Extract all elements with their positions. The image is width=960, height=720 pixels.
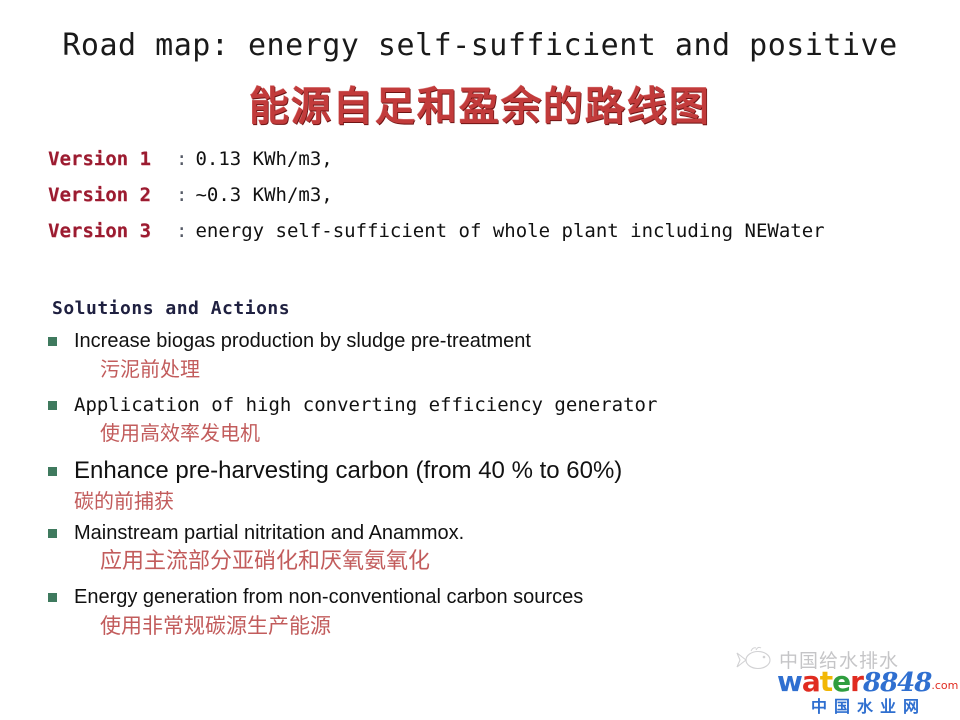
- square-bullet-icon: [48, 401, 57, 410]
- square-bullet-icon: [48, 593, 57, 602]
- bullet-text-english: Mainstream partial nitritation and Anamm…: [74, 520, 464, 546]
- version-colon: :: [176, 184, 187, 206]
- version-value: 0.13 KWh/m3,: [195, 148, 332, 170]
- version-value: ~0.3 KWh/m3,: [195, 184, 332, 206]
- square-bullet-icon: [48, 337, 57, 346]
- logo-letter-w: w: [777, 665, 802, 698]
- version-row: Version 2 : ~0.3 KWh/m3,: [48, 184, 948, 220]
- watermark-logo-tld: .com: [931, 679, 958, 692]
- bullet-text-english: Application of high converting efficienc…: [74, 392, 657, 418]
- slide-title-english: Road map: energy self-sufficient and pos…: [0, 28, 960, 63]
- version-value: energy self-sufficient of whole plant in…: [195, 220, 824, 242]
- square-bullet-icon: [48, 529, 57, 538]
- bullet-item: Energy generation from non-conventional …: [48, 584, 948, 642]
- bullet-item: Enhance pre-harvesting carbon (from 40 %…: [48, 456, 948, 516]
- bullet-text-chinese: 使用非常规碳源生产能源: [48, 610, 948, 642]
- version-colon: :: [176, 220, 187, 242]
- version-row: Version 1 : 0.13 KWh/m3,: [48, 148, 948, 184]
- bullet-line: Application of high converting efficienc…: [48, 392, 948, 418]
- version-label: Version 2: [48, 184, 176, 206]
- slide-canvas: Road map: energy self-sufficient and pos…: [0, 0, 960, 720]
- bullet-line: Enhance pre-harvesting carbon (from 40 %…: [48, 456, 948, 486]
- version-colon: :: [176, 148, 187, 170]
- bullet-text-chinese: 使用高效率发电机: [48, 418, 948, 448]
- bullet-line: Increase biogas production by sludge pre…: [48, 328, 948, 354]
- solutions-heading: Solutions and Actions: [52, 298, 290, 319]
- bullet-text-english: Enhance pre-harvesting carbon (from 40 %…: [74, 456, 622, 486]
- bullet-text-chinese: 应用主流部分亚硝化和厌氧氨氧化: [48, 546, 948, 578]
- bullet-item: Application of high converting efficienc…: [48, 392, 948, 448]
- bullet-line: Energy generation from non-conventional …: [48, 584, 948, 610]
- bullet-item: Increase biogas production by sludge pre…: [48, 328, 948, 384]
- version-label: Version 1: [48, 148, 176, 170]
- bullet-text-chinese: 碳的前捕获: [48, 486, 948, 516]
- version-label: Version 3: [48, 220, 176, 242]
- watermark: 中国给水排水 water8848.com 中国水业网: [735, 645, 960, 717]
- bullet-text-english: Energy generation from non-conventional …: [74, 584, 583, 610]
- slide-title-chinese: 能源自足和盈余的路线图: [0, 74, 960, 132]
- version-row: Version 3 : energy self-sufficient of wh…: [48, 220, 948, 256]
- square-bullet-icon: [48, 467, 57, 476]
- bullet-line: Mainstream partial nitritation and Anamm…: [48, 520, 948, 546]
- solutions-bullet-list: Increase biogas production by sludge pre…: [48, 328, 948, 644]
- bullet-text-english: Increase biogas production by sludge pre…: [74, 328, 531, 354]
- watermark-logo-subtitle: 中国水业网: [811, 693, 926, 717]
- version-list: Version 1 : 0.13 KWh/m3, Version 2 : ~0.…: [48, 148, 948, 256]
- bullet-item: Mainstream partial nitritation and Anamm…: [48, 520, 948, 578]
- bullet-text-chinese: 污泥前处理: [48, 354, 948, 384]
- fish-logo-icon: [735, 645, 775, 673]
